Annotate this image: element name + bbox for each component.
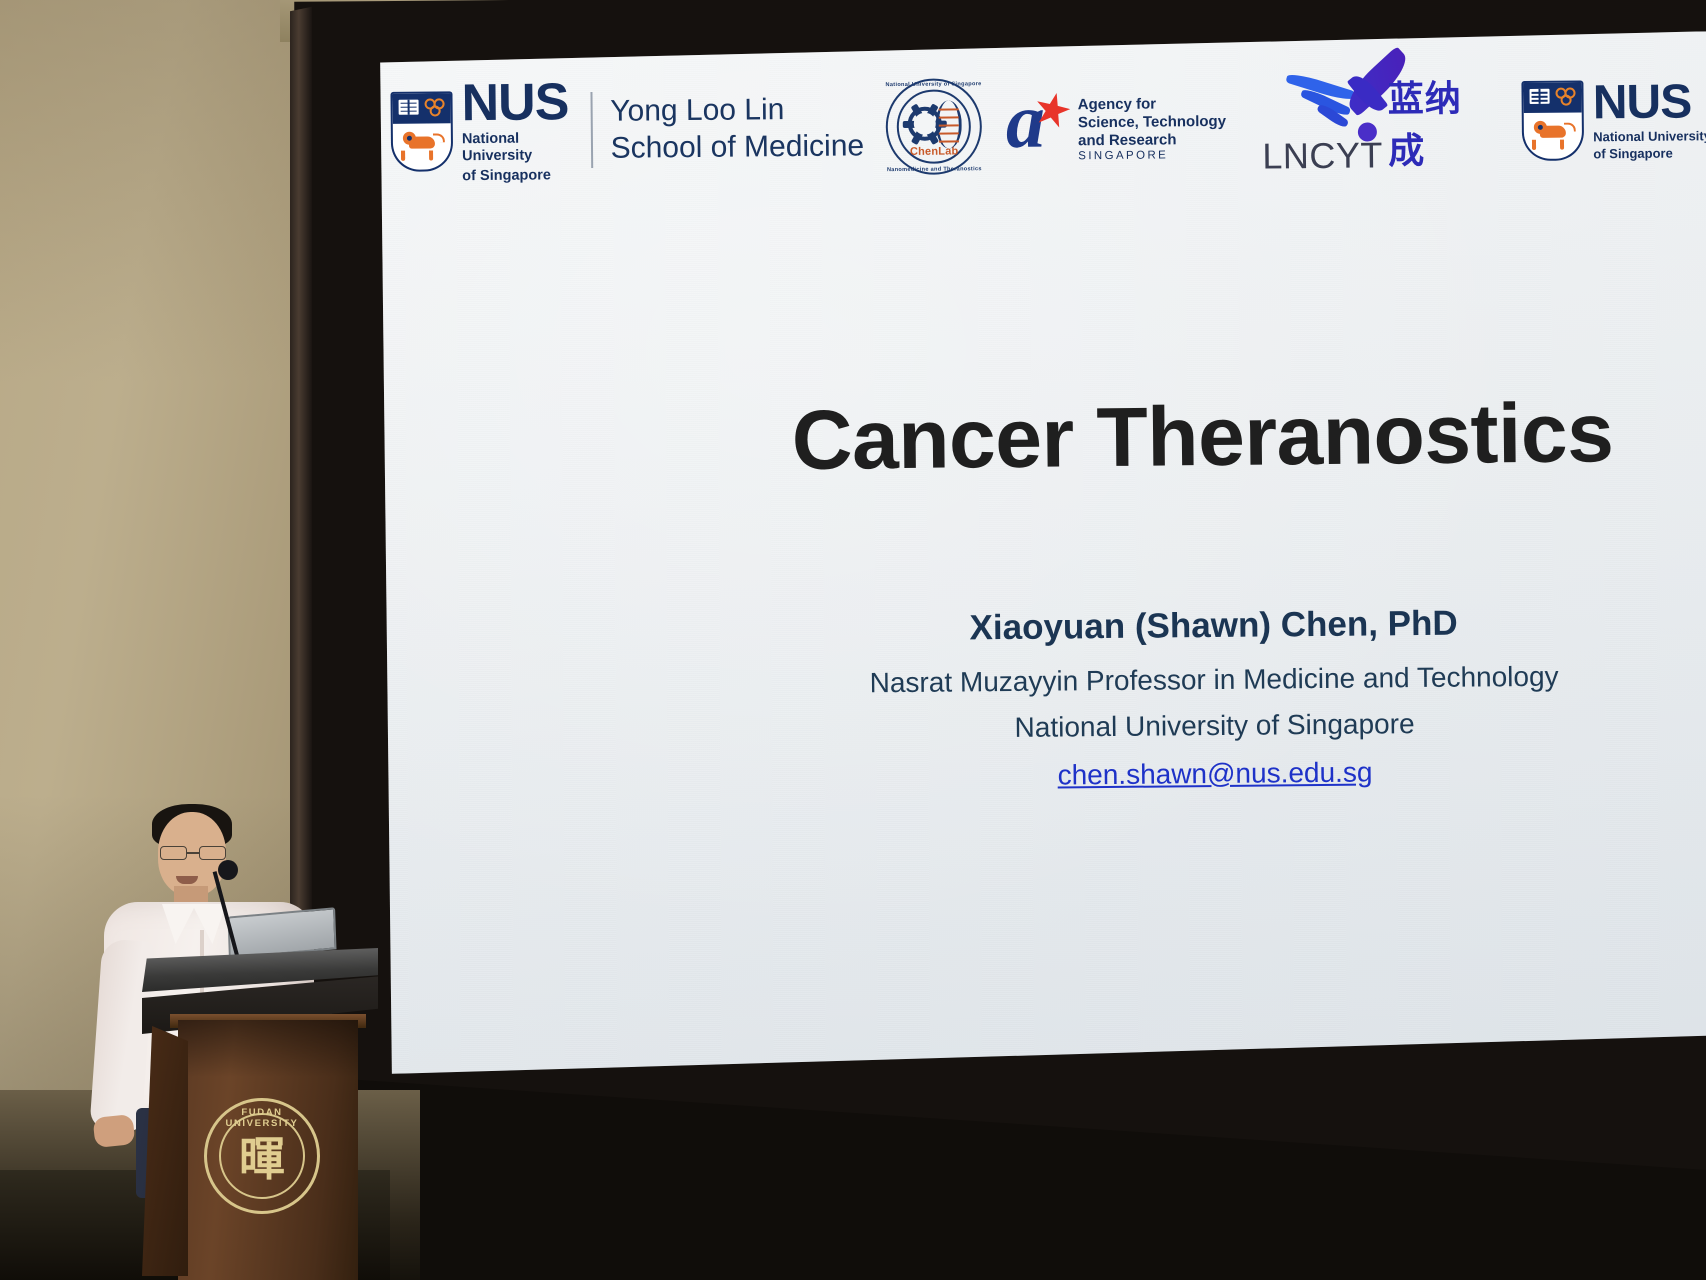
chenlab-arc-bottom: Nanomedicine and Theranostics: [886, 166, 982, 173]
microphone-icon: [218, 860, 238, 880]
logo-divider: [590, 92, 593, 168]
author-email-link[interactable]: chen.shawn@nus.edu.sg: [865, 755, 1565, 794]
chenlab-arc-top: National University of Singapore: [886, 81, 982, 88]
lncyt-wordmark: LNCYT: [1262, 134, 1383, 177]
glasses-icon: [158, 846, 228, 860]
podium: FUDAN UNIVERSITY 暉: [142, 948, 378, 1280]
podium-emblem: FUDAN UNIVERSITY 暉: [204, 1098, 320, 1214]
logo-chenlab: National University of Singapore ChenLab…: [885, 78, 982, 175]
nus-crest-icon-secondary: [1522, 80, 1585, 161]
author-affiliation: National University of Singapore: [864, 707, 1564, 746]
nus-wordmark: NUS: [461, 76, 572, 129]
dna-helix-icon: [936, 100, 962, 148]
author-name: Xiaoyuan (Shawn) Chen, PhD: [863, 603, 1563, 650]
astar-line2: Science, Technology: [1078, 113, 1226, 133]
nus-secondary-wordmark: NUS: [1593, 78, 1706, 127]
podium-left-panel: [142, 1026, 188, 1276]
chenlab-label: ChenLab: [886, 145, 982, 158]
presentation-slide: NUS National University of Singapore Yon…: [378, 31, 1706, 1074]
logo-lncyt: LNCYT 蓝纳成: [1262, 65, 1493, 179]
nus-subtitle-line2: of Singapore: [462, 167, 573, 185]
lecture-hall-scene: NUS National University of Singapore Yon…: [0, 0, 1706, 1280]
astar-line1: Agency for: [1078, 94, 1226, 114]
nus-secondary-subtitle-line1: National University: [1593, 128, 1706, 144]
yll-line2: School of Medicine: [610, 127, 864, 167]
nus-subtitle-line1: National University: [462, 130, 573, 165]
podium-emblem-text: FUDAN UNIVERSITY: [207, 1107, 317, 1129]
star-icon: [1036, 92, 1070, 126]
yll-line1: Yong Loo Lin: [610, 90, 864, 130]
astar-country: SINGAPORE: [1078, 149, 1226, 162]
logo-a-star: a Agency for Science, Technology and Res…: [1006, 86, 1227, 163]
author-position: Nasrat Muzayyin Professor in Medicine an…: [864, 661, 1564, 700]
logo-nus-secondary: NUS National University of Singapore: [1522, 78, 1706, 162]
author-block: Xiaoyuan (Shawn) Chen, PhD Nasrat Muzayy…: [863, 603, 1565, 794]
slide-logo-bar: NUS National University of Singapore Yon…: [378, 39, 1706, 212]
lncyt-chinese-name: 蓝纳成: [1388, 69, 1493, 174]
slide-title: Cancer Theranostics: [791, 384, 1613, 489]
presenter-hand: [93, 1114, 136, 1148]
nus-crest-icon: [390, 91, 453, 172]
logo-yong-loo-lin: Yong Loo Lin School of Medicine: [610, 90, 864, 167]
nus-secondary-subtitle-line2: of Singapore: [1593, 145, 1706, 161]
astar-line3: and Research: [1078, 131, 1226, 151]
logo-nus-primary: NUS National University of Singapore: [390, 76, 573, 185]
